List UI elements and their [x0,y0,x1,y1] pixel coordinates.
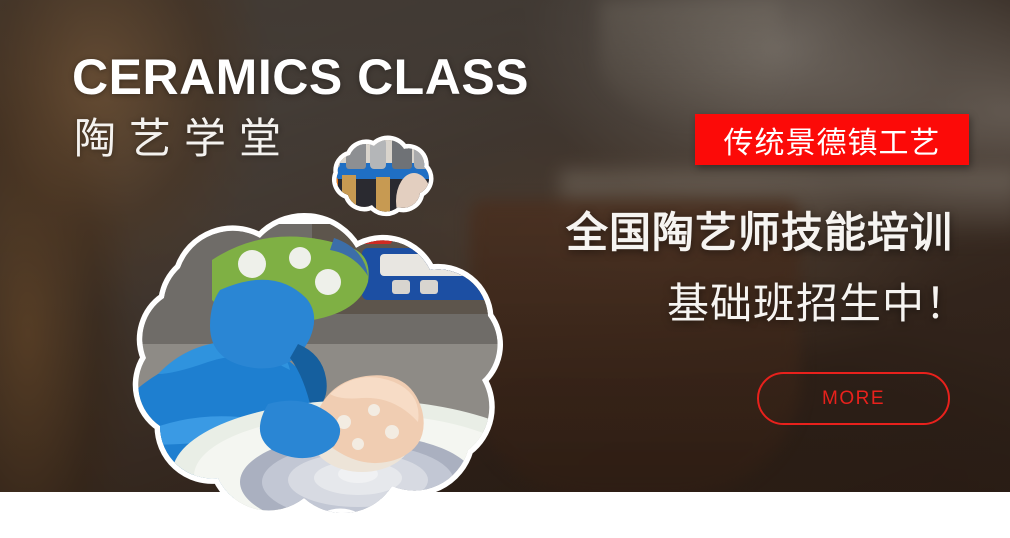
cloud-photo-large [62,224,546,524]
headline-line-2: 基础班招生中！ [566,270,968,331]
page-title-chinese: 陶艺学堂 [74,116,294,162]
headline-line-1: 全国陶艺师技能培训 [566,199,953,260]
tradition-badge-label: 传统景德镇工艺 [724,118,941,162]
ceramics-class-banner: CERAMICS CLASS 陶艺学堂 [0,0,1010,538]
tradition-badge: 传统景德镇工艺 [695,114,969,165]
cloud-photo-small [316,133,436,227]
page-title-english: CERAMICS CLASS [72,52,529,102]
more-button[interactable]: MORE [757,372,950,425]
more-button-label: MORE [822,388,885,410]
